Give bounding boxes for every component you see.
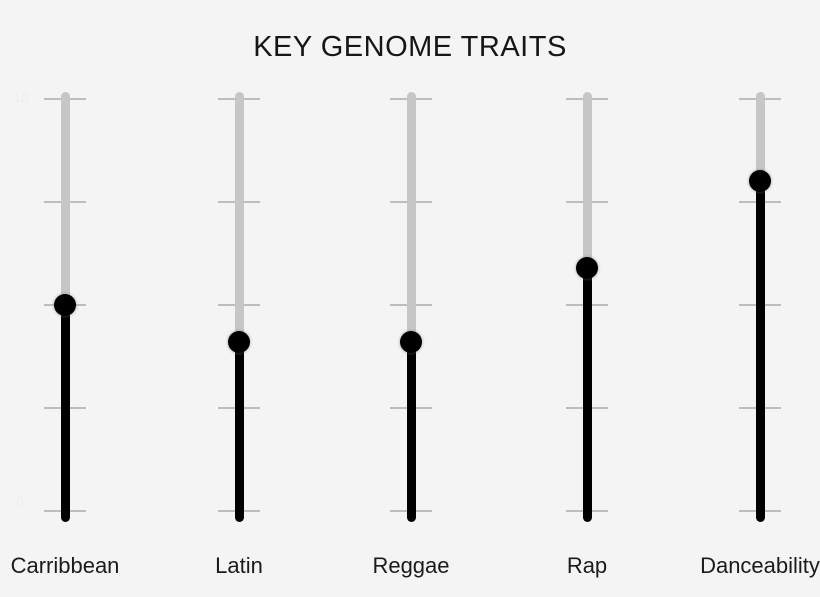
slider-carribbean[interactable]: Carribbean (35, 0, 95, 597)
slider-track-empty[interactable] (235, 92, 244, 342)
slider-track-filled[interactable] (756, 181, 765, 522)
slider-label: Danceability (640, 553, 820, 579)
slider-track-filled[interactable] (407, 342, 416, 522)
slider-track-empty[interactable] (407, 92, 416, 342)
slider-latin[interactable]: Latin (209, 0, 269, 597)
slider-rap[interactable]: Rap (557, 0, 617, 597)
slider-track-filled[interactable] (583, 268, 592, 522)
slider-handle[interactable] (400, 331, 422, 353)
slider-track-filled[interactable] (61, 305, 70, 522)
axis-max-label: 10 (14, 91, 28, 104)
slider-handle[interactable] (228, 331, 250, 353)
slider-handle[interactable] (576, 257, 598, 279)
slider-track-filled[interactable] (235, 342, 244, 522)
slider-track-empty[interactable] (583, 92, 592, 268)
slider-track-empty[interactable] (756, 92, 765, 181)
slider-track-empty[interactable] (61, 92, 70, 305)
slider-reggae[interactable]: Reggae (381, 0, 441, 597)
axis-min-label: 0 (16, 495, 23, 508)
slider-handle[interactable] (54, 294, 76, 316)
slider-danceability[interactable]: Danceability (730, 0, 790, 597)
slider-handle[interactable] (749, 170, 771, 192)
chart-canvas: KEY GENOME TRAITS 10 0 CarribbeanLatinRe… (0, 0, 820, 597)
